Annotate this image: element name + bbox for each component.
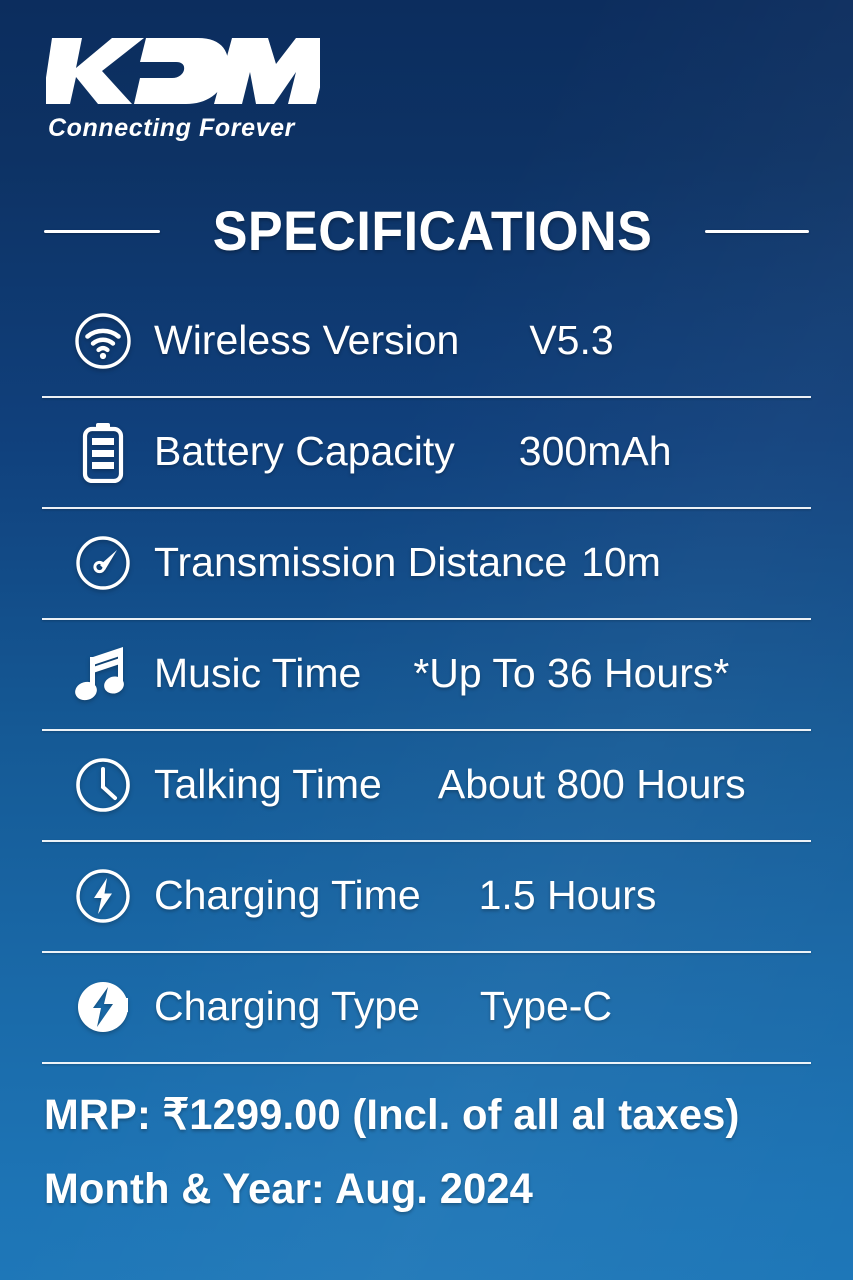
spec-label: Music Time [154, 652, 361, 695]
specifications-list: Wireless Version V5.3 Battery Capacity 3… [42, 285, 811, 1064]
spec-value: 1.5 Hours [479, 874, 657, 917]
spec-label: Transmission Distance [154, 541, 567, 584]
spec-label: Talking Time [154, 763, 382, 806]
spec-value: About 800 Hours [438, 763, 746, 806]
spec-row: Wireless Version V5.3 [42, 285, 811, 396]
spec-row: Charging Type Type-C [42, 951, 811, 1062]
spec-content: Wireless Version V5.3 [142, 319, 811, 362]
spec-label: Wireless Version [154, 319, 459, 362]
heading-rule-left [44, 230, 160, 233]
month-year-line: Month & Year: Aug. 2024 [44, 1160, 788, 1218]
spec-label: Battery Capacity [154, 430, 455, 473]
spec-content: Transmission Distance 10m [142, 541, 811, 584]
spec-label: Charging Time [154, 874, 421, 917]
spec-value: 300mAh [519, 430, 672, 473]
spec-row: Talking Time About 800 Hours [42, 729, 811, 840]
page-title: SPECIFICATIONS [198, 203, 668, 259]
spec-row: Charging Time 1.5 Hours [42, 840, 811, 951]
brand-header: Connecting Forever [42, 0, 811, 143]
pricing-footer: MRP: ₹1299.00 (Incl. of all al taxes) Mo… [42, 1086, 811, 1218]
spec-row: Music Time *Up To 36 Hours* [42, 618, 811, 729]
kdm-wordmark-icon [46, 34, 320, 108]
spec-content: Music Time *Up To 36 Hours* [142, 652, 811, 695]
battery-icon [64, 415, 142, 489]
spec-content: Talking Time About 800 Hours [142, 763, 811, 806]
spec-value: 10m [581, 541, 661, 584]
spec-row: Battery Capacity 300mAh [42, 396, 811, 507]
speedometer-icon [64, 526, 142, 600]
lightning-bolt-circle-icon [64, 859, 142, 933]
fast-charge-badge-icon [64, 970, 142, 1044]
clock-icon [64, 748, 142, 822]
mrp-line: MRP: ₹1299.00 (Incl. of all al taxes) [44, 1086, 788, 1144]
spec-label: Charging Type [154, 985, 420, 1028]
spec-value: Type-C [480, 985, 612, 1028]
spec-value: *Up To 36 Hours* [413, 652, 729, 695]
spec-row: Transmission Distance 10m [42, 507, 811, 618]
brand-tagline: Connecting Forever [48, 114, 811, 143]
spec-content: Charging Time 1.5 Hours [142, 874, 811, 917]
spec-content: Charging Type Type-C [142, 985, 811, 1028]
music-note-icon [64, 637, 142, 711]
spec-content: Battery Capacity 300mAh [142, 430, 811, 473]
section-heading: SPECIFICATIONS [42, 203, 811, 259]
spec-value: V5.3 [529, 319, 613, 362]
heading-rule-right [705, 230, 809, 233]
specification-sheet: Connecting Forever SPECIFICATIONS Wirele… [0, 0, 853, 1280]
wifi-signal-icon [64, 304, 142, 378]
